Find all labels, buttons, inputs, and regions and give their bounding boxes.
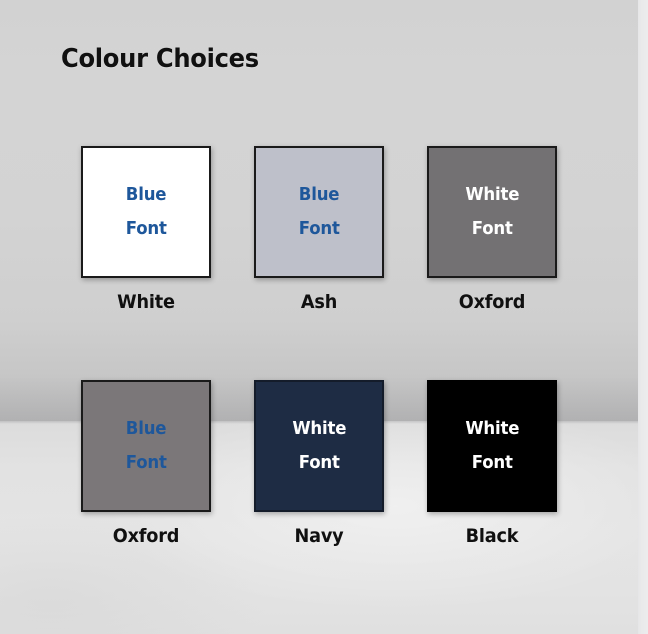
swatch-font-label-line1: White xyxy=(465,178,519,212)
swatch-font-label-line2: Font xyxy=(472,446,513,480)
swatch-chip-navy[interactable]: White Font xyxy=(254,380,384,512)
swatch-font-label-line2: Font xyxy=(126,212,167,246)
swatch-name-ash: Ash xyxy=(259,291,380,313)
swatch-row-top: Blue Font White Blue Font Ash White Fo xyxy=(81,146,567,313)
swatch-chip-white[interactable]: Blue Font xyxy=(81,146,211,278)
swatch-font-label-line2: Font xyxy=(299,212,340,246)
colour-choices-scene: Colour Choices Blue Font White Blue Font… xyxy=(0,0,648,634)
swatch-cell-oxford-white-font[interactable]: White Font Oxford xyxy=(427,146,557,313)
swatch-chip-oxford-white-font[interactable]: White Font xyxy=(427,146,557,278)
swatch-name-oxford-top: Oxford xyxy=(432,291,553,313)
swatch-name-oxford-bottom: Oxford xyxy=(86,525,207,547)
swatch-cell-ash[interactable]: Blue Font Ash xyxy=(254,146,384,313)
swatch-font-label-line1: White xyxy=(465,412,519,446)
swatch-cell-navy[interactable]: White Font Navy xyxy=(254,380,384,547)
page-title: Colour Choices xyxy=(61,44,259,74)
swatch-cell-white[interactable]: Blue Font White xyxy=(81,146,211,313)
swatch-chip-oxford-blue-font[interactable]: Blue Font xyxy=(81,380,211,512)
swatch-row-bottom: Blue Font Oxford White Font Navy White xyxy=(81,380,567,547)
swatch-name-navy: Navy xyxy=(259,525,380,547)
swatch-font-label-line1: White xyxy=(292,412,346,446)
swatch-chip-ash[interactable]: Blue Font xyxy=(254,146,384,278)
swatch-name-white: White xyxy=(86,291,207,313)
swatch-font-label-line1: Blue xyxy=(299,178,340,212)
swatch-cell-oxford-blue-font[interactable]: Blue Font Oxford xyxy=(81,380,211,547)
swatch-font-label-line1: Blue xyxy=(126,178,167,212)
swatch-font-label-line2: Font xyxy=(126,446,167,480)
swatch-grid: Blue Font White Blue Font Ash White Fo xyxy=(81,146,567,614)
swatch-font-label-line2: Font xyxy=(299,446,340,480)
swatch-font-label-line2: Font xyxy=(472,212,513,246)
swatch-chip-black[interactable]: White Font xyxy=(427,380,557,512)
swatch-font-label-line1: Blue xyxy=(126,412,167,446)
swatch-cell-black[interactable]: White Font Black xyxy=(427,380,557,547)
swatch-name-black: Black xyxy=(432,525,553,547)
